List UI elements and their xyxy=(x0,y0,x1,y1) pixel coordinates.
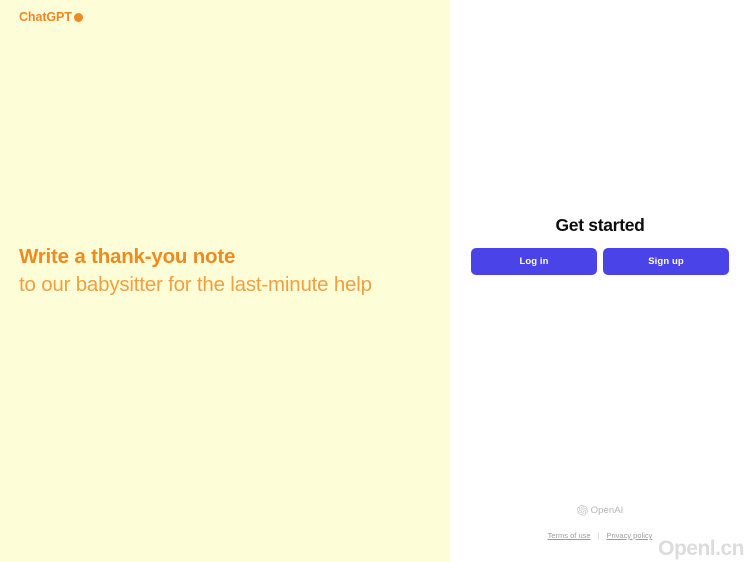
login-page: ChatGPT Write a thank-you note to our ba… xyxy=(0,0,750,562)
legal-separator: | xyxy=(598,531,600,540)
login-button[interactable]: Log in xyxy=(471,248,597,275)
chatgpt-brand-lockup: ChatGPT xyxy=(19,11,83,24)
auth-panel: Get started Log in Sign up OpenAI Terms … xyxy=(450,0,750,562)
openai-wordmark: OpenAI xyxy=(591,506,624,516)
page-title: Get started xyxy=(450,214,750,236)
example-prompt-subline: to our babysitter for the last-minute he… xyxy=(19,271,419,299)
signup-button[interactable]: Sign up xyxy=(603,248,729,275)
chatgpt-wordmark: ChatGPT xyxy=(19,11,72,24)
orange-dot-icon xyxy=(74,13,83,22)
example-prompt-headline: Write a thank-you note xyxy=(19,243,419,271)
promo-panel: ChatGPT Write a thank-you note to our ba… xyxy=(0,0,450,562)
auth-button-group: Log in Sign up xyxy=(450,248,750,275)
openai-logo-icon xyxy=(577,505,588,516)
privacy-policy-link[interactable]: Privacy policy xyxy=(607,531,653,540)
footer: OpenAI Terms of use | Privacy policy xyxy=(450,505,750,540)
get-started-block: Get started Log in Sign up xyxy=(450,214,750,275)
openai-lockup: OpenAI xyxy=(450,505,750,516)
terms-of-use-link[interactable]: Terms of use xyxy=(548,531,591,540)
example-prompt: Write a thank-you note to our babysitter… xyxy=(19,243,419,299)
legal-links: Terms of use | Privacy policy xyxy=(450,531,750,540)
